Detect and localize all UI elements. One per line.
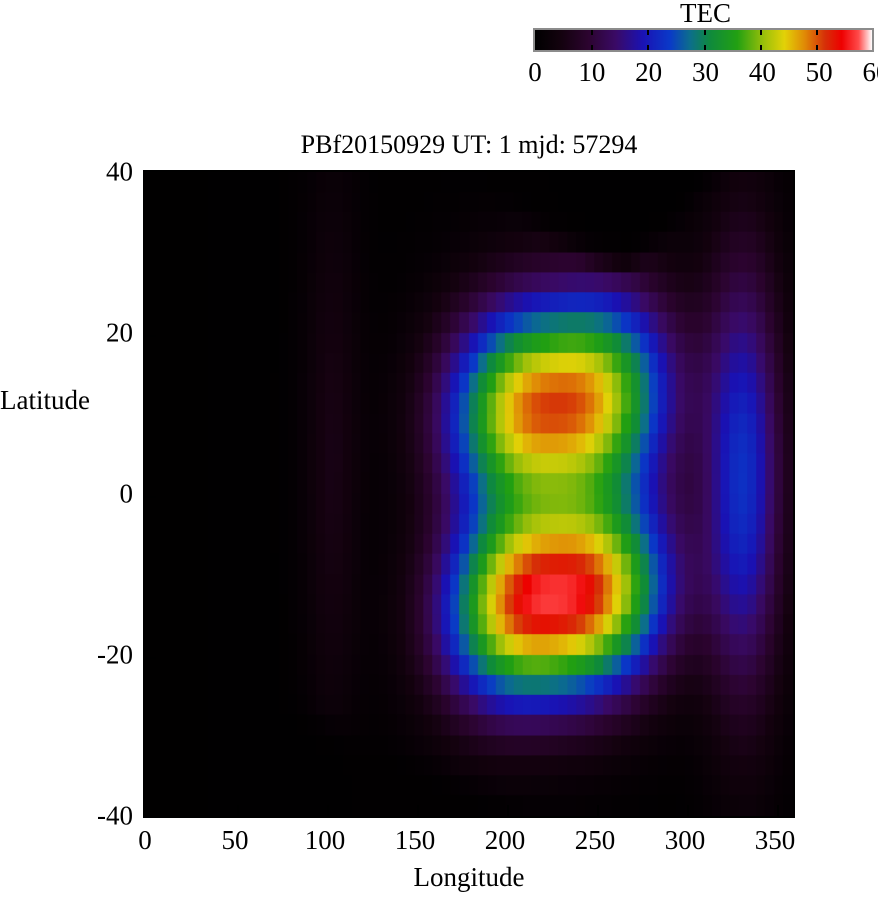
colorbar-title: TEC (533, 0, 878, 26)
colorbar-tick (591, 45, 593, 50)
colorbar-tickmarks (535, 30, 872, 50)
x-tick-label: 300 (665, 822, 706, 858)
heatmap-plot-area (143, 170, 795, 818)
x-tick-label: 350 (755, 822, 796, 858)
colorbar-tick-label: 20 (635, 55, 662, 89)
y-axis-tick-labels: 40200-20-40 (0, 170, 133, 818)
y-axis-tick (145, 335, 156, 337)
x-axis-tick (597, 805, 599, 816)
x-axis-tick (507, 805, 509, 816)
colorbar-tick-label: 40 (749, 55, 776, 89)
heatmap-canvas (145, 172, 793, 816)
colorbar-box (533, 28, 874, 52)
y-tick-label: -40 (97, 801, 133, 832)
colorbar-tick (647, 30, 649, 35)
x-tick-label: 200 (485, 822, 526, 858)
y-tick-label: 0 (120, 479, 134, 510)
x-axis-tick (687, 805, 689, 816)
y-axis-tick (145, 496, 156, 498)
colorbar-tick (704, 45, 706, 50)
x-axis-tick (777, 805, 779, 816)
y-tick-label: 40 (106, 157, 133, 188)
x-tick-label: 150 (395, 822, 436, 858)
colorbar-tick (816, 30, 818, 35)
colorbar-tick (704, 30, 706, 35)
colorbar-tick-label: 10 (578, 55, 605, 89)
x-tick-label: 0 (138, 822, 152, 858)
colorbar-tick (591, 30, 593, 35)
colorbar-tick-labels: 0102030405060 (533, 55, 878, 89)
colorbar-tick (647, 45, 649, 50)
colorbar-tick (760, 30, 762, 35)
x-axis-tick-labels: 050100150200250300350 (143, 822, 795, 858)
y-tick-label: -20 (97, 640, 133, 671)
y-axis-tick (145, 657, 156, 659)
x-tick-label: 100 (305, 822, 346, 858)
colorbar-tick-label: 30 (692, 55, 719, 89)
colorbar-tick-label: 60 (863, 55, 878, 89)
x-axis-tick (327, 805, 329, 816)
x-tick-label: 50 (222, 822, 249, 858)
x-axis-tick (417, 805, 419, 816)
x-tick-label: 250 (575, 822, 616, 858)
y-tick-label: 20 (106, 318, 133, 349)
figure-root: TEC 0102030405060 PBf20150929 UT: 1 mjd:… (0, 0, 878, 900)
x-axis-label: Longitude (143, 862, 795, 893)
plot-title: PBf20150929 UT: 1 mjd: 57294 (143, 128, 795, 162)
x-axis-tick (237, 805, 239, 816)
colorbar-tick (760, 45, 762, 50)
colorbar-tick-label: 0 (528, 55, 542, 89)
colorbar-tick-label: 50 (806, 55, 833, 89)
y-axis-label: Latitude (0, 385, 130, 416)
colorbar-tick (816, 45, 818, 50)
colorbar (533, 28, 878, 54)
